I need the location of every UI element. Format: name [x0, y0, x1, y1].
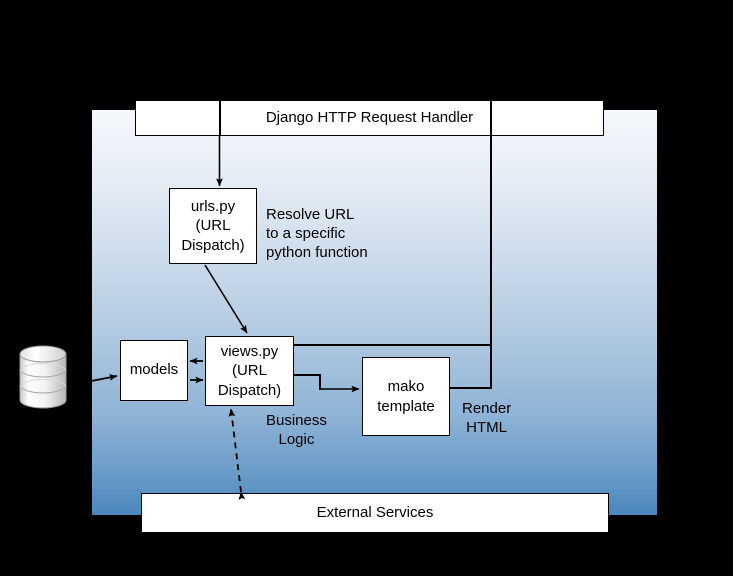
connector-views-to-mako-h1 — [293, 374, 321, 376]
annotation-render-html: Render HTML — [462, 399, 511, 437]
connector-header-to-views-horizontal — [293, 344, 492, 346]
header-divider-left — [219, 100, 221, 136]
diagram-canvas: Django HTTP Request Handler urls.py (URL… — [0, 0, 733, 576]
connector-mako-return-horizontal — [449, 387, 492, 389]
node-views-py: views.py (URL Dispatch) — [205, 336, 294, 406]
header-label: Django HTTP Request Handler — [266, 109, 473, 128]
connector-views-to-mako-v — [319, 374, 321, 390]
connector-header-to-views-vertical — [490, 136, 492, 345]
external-services-label: External Services — [317, 504, 434, 523]
node-mako-template: mako template — [362, 357, 450, 436]
database-cylinder-icon — [18, 345, 68, 409]
mako-label: mako template — [377, 377, 435, 415]
node-external-services: External Services — [141, 493, 609, 533]
urls-label: urls.py (URL Dispatch) — [181, 197, 244, 255]
annotation-business-logic: Business Logic — [266, 411, 327, 449]
node-models: models — [120, 340, 188, 401]
gradient-backdrop-panel — [92, 110, 657, 515]
node-urls-py: urls.py (URL Dispatch) — [169, 188, 257, 264]
models-label: models — [130, 361, 178, 380]
annotation-resolve-url: Resolve URL to a specific python functio… — [266, 205, 368, 263]
header-divider-right — [490, 100, 492, 136]
connector-mako-return-vertical — [490, 344, 492, 389]
views-label: views.py (URL Dispatch) — [218, 342, 281, 400]
header-django-http-request-handler: Django HTTP Request Handler — [135, 100, 604, 136]
